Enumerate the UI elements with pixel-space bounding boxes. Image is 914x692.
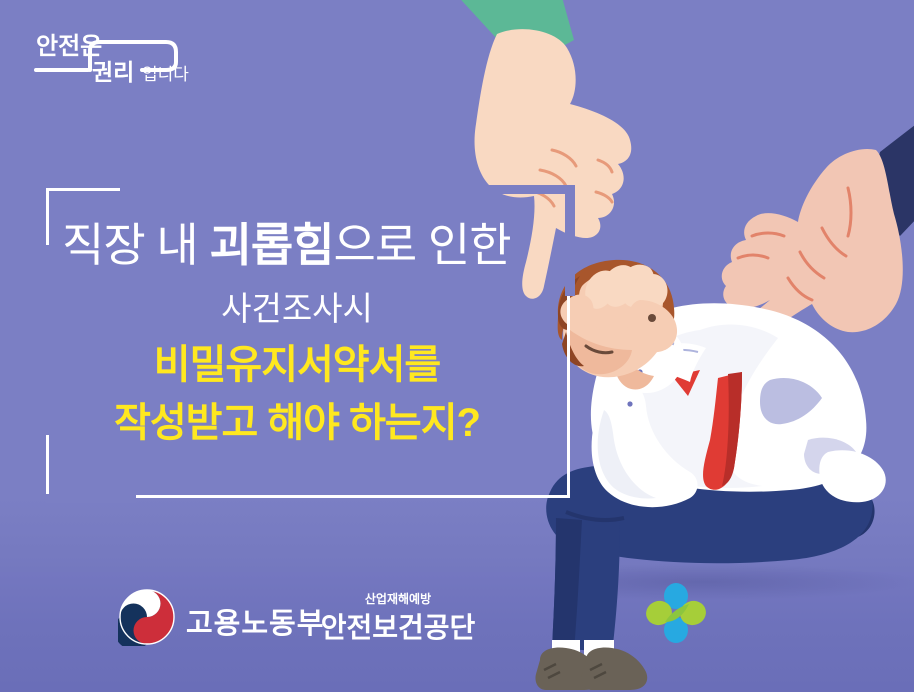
headline-line-4: 작성받고 해야 하는지? xyxy=(62,403,532,443)
frame-gap-top xyxy=(120,185,575,194)
headline-line-1-emphasis: 괴롭힘 xyxy=(210,219,334,271)
headline-line-3: 비밀유지서약서를 xyxy=(62,345,532,385)
frame-gap-left xyxy=(43,245,52,435)
slogan-text-a: 안전은 xyxy=(36,33,102,60)
korean-government-emblem-icon xyxy=(118,588,176,646)
headline-line-1-prefix: 직장 내 xyxy=(62,219,210,271)
headline-line-2: 사건조사시 xyxy=(62,292,532,325)
frame-gap-bottom xyxy=(46,494,136,503)
safety-slogan-logo: 안전은 권리 입니다 xyxy=(30,28,190,90)
kosha-pinwheel-icon xyxy=(645,582,707,644)
slogan-text-b: 권리 xyxy=(92,59,134,85)
headline-block: 직장 내 괴롭힘으로 인한 사건조사시 비밀유지서약서를 작성받고 해야 하는지… xyxy=(62,222,562,443)
agency-small-label: 산업재해예방 xyxy=(313,590,483,607)
slogan-text-c: 입니다 xyxy=(142,65,189,84)
agency-label: 안전보건공단 xyxy=(313,606,483,646)
poster-canvas: 안전은 권리 입니다 직장 내 괴롭힘으로 인한 사건조사시 비밀유지서약서를 … xyxy=(0,0,914,692)
ministry-label: 고용노동부 xyxy=(186,600,324,642)
frame-gap-right xyxy=(565,186,575,296)
kosha-logo-group: 산업재해예방 안전보건공단 xyxy=(313,586,513,650)
headline-line-1: 직장 내 괴롭힘으로 인한 xyxy=(62,222,562,268)
headline-line-1-suffix: 으로 인한 xyxy=(334,219,511,271)
